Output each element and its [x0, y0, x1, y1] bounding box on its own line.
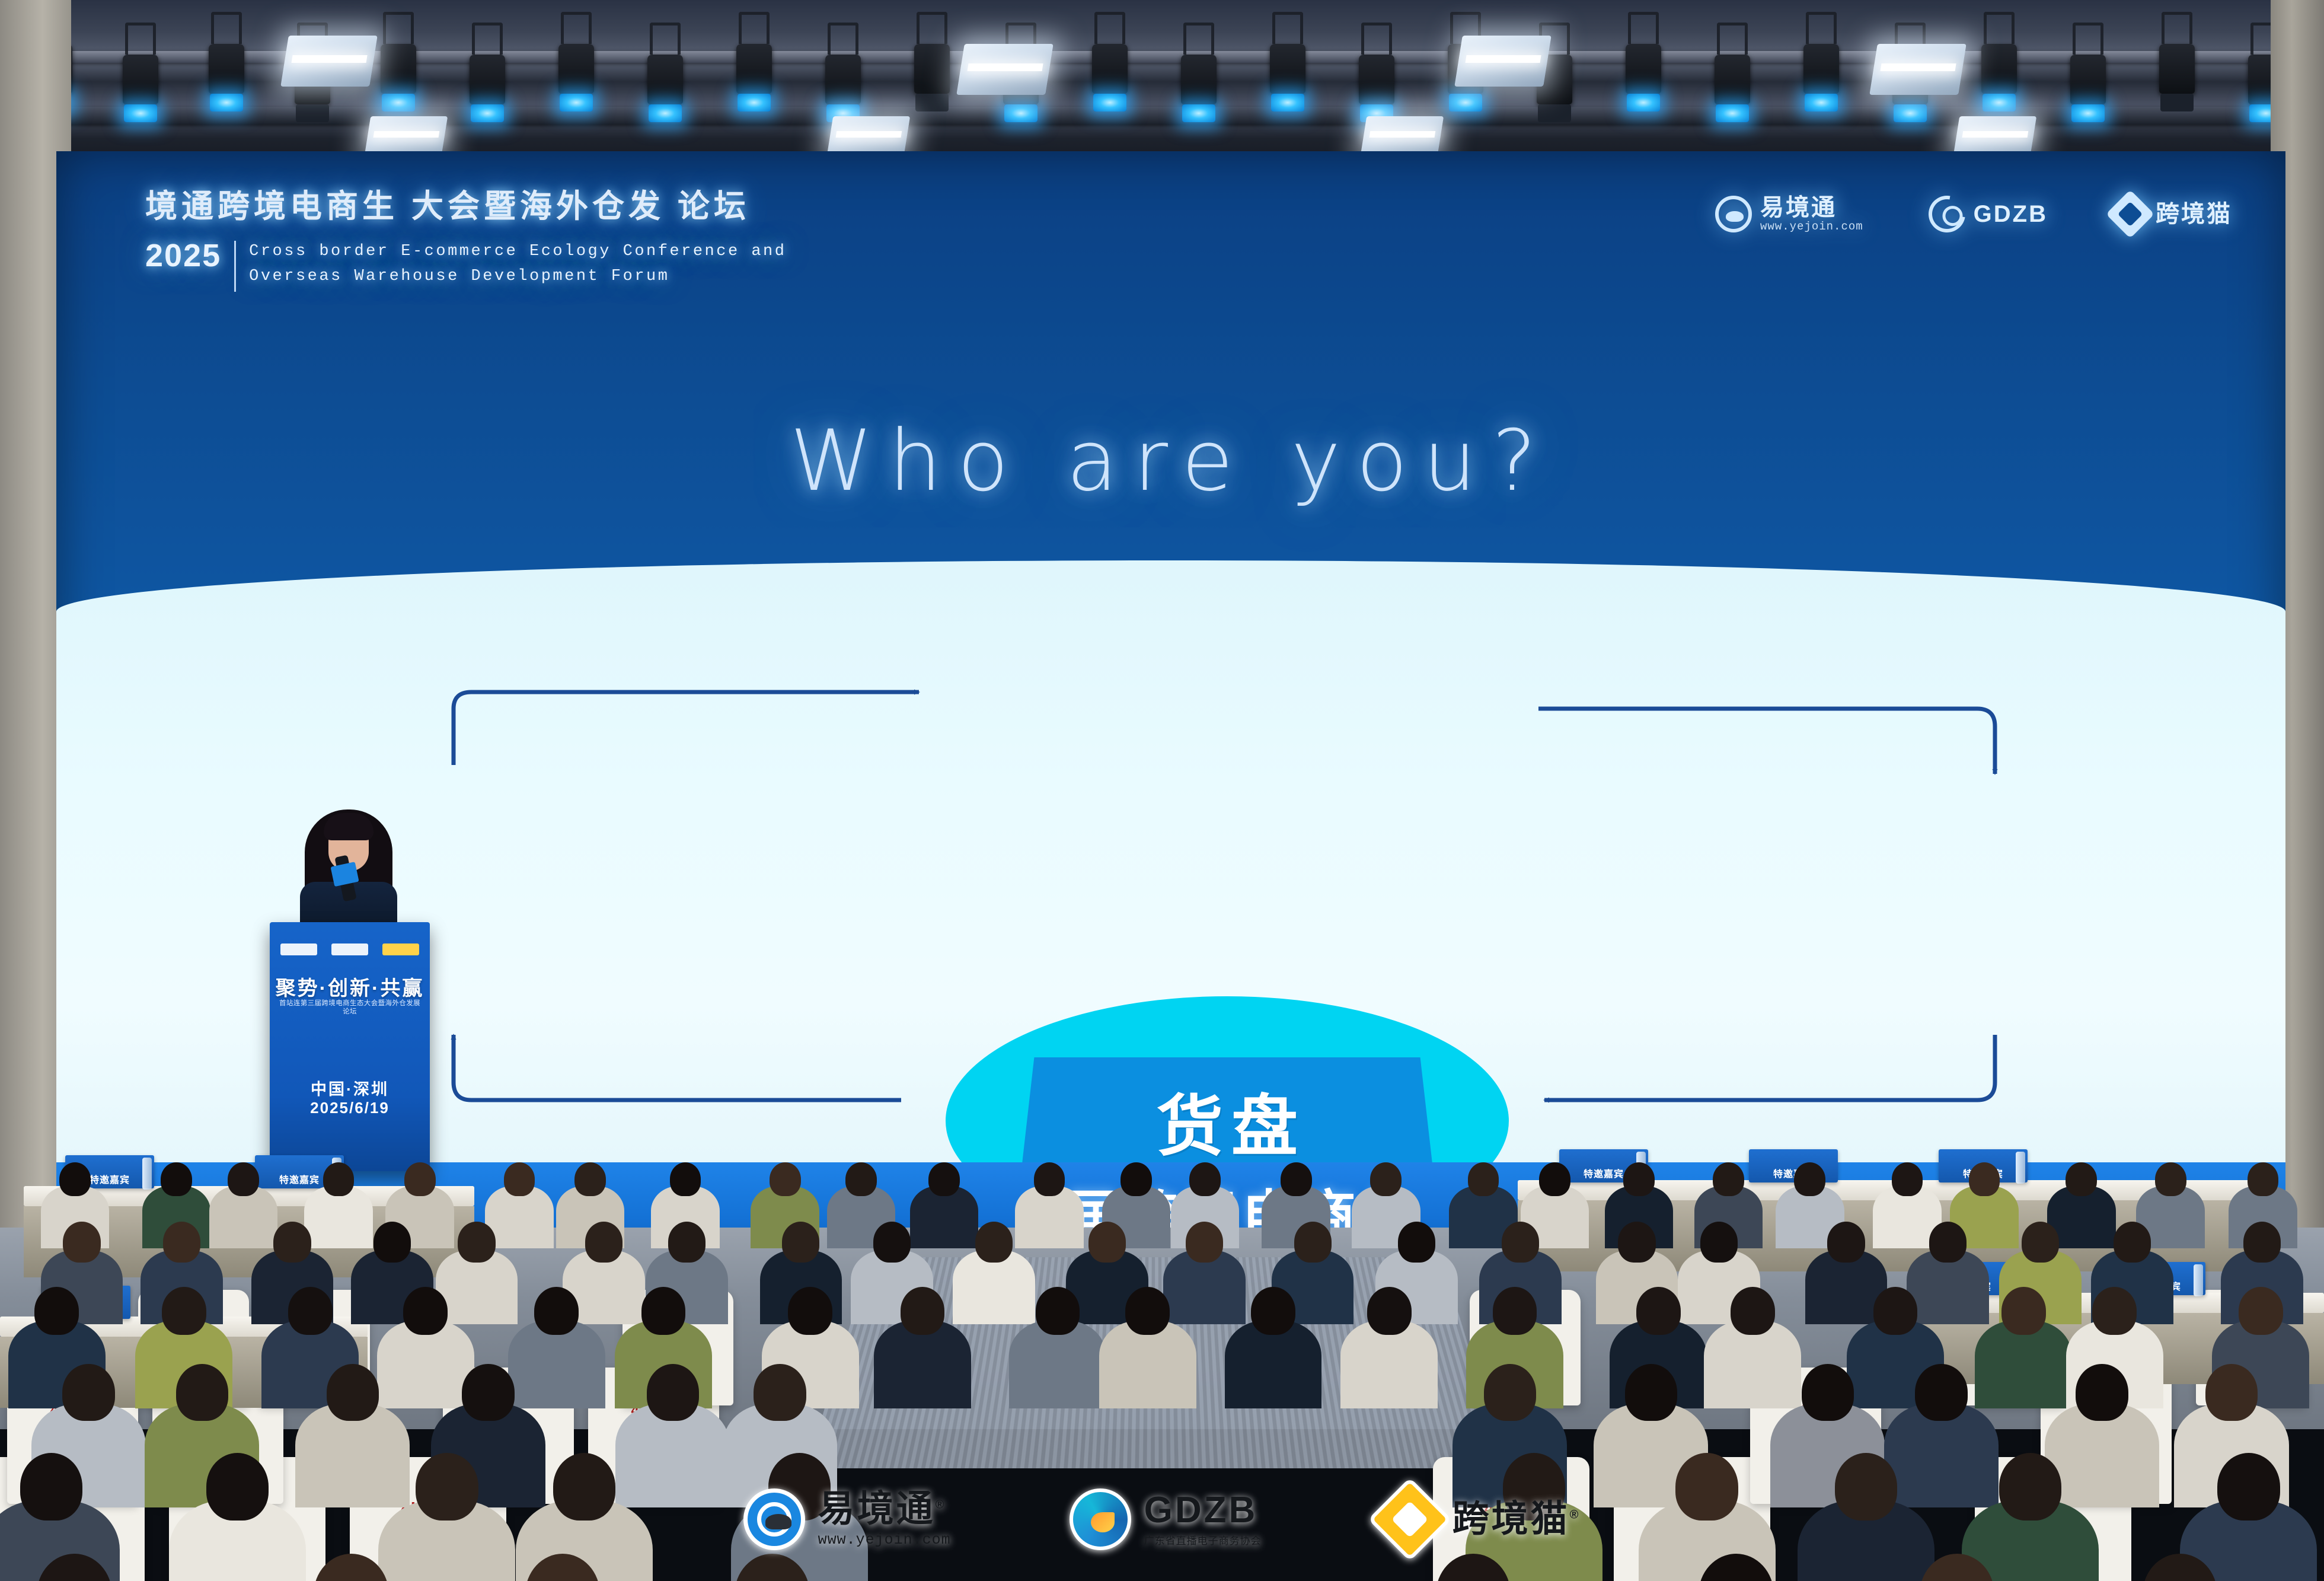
audience-member-head: [1802, 1364, 1854, 1421]
audience-member-head: [2239, 1287, 2283, 1335]
audience-member-head: [1618, 1222, 1655, 1263]
floodlight-slit: [1880, 63, 1956, 72]
light-lens: [1716, 104, 1749, 122]
audience-member-head: [534, 1287, 579, 1335]
audience-member-head: [1398, 1222, 1435, 1263]
light-lens: [1004, 104, 1037, 122]
stage-light-13: [1091, 12, 1129, 111]
audience-member-head: [845, 1162, 877, 1196]
audience-member-head: [228, 1162, 259, 1196]
light-body: [1181, 55, 1217, 104]
light-lens: [1182, 104, 1215, 122]
audience-member-head: [1794, 1162, 1825, 1196]
light-yoke: [1806, 12, 1837, 44]
light-body: [123, 55, 158, 104]
guest-placard-label: 特邀嘉宾: [1584, 1166, 1624, 1180]
audience-member-head: [647, 1364, 699, 1421]
audience-member-head: [1370, 1162, 1402, 1196]
audience-member-head: [1251, 1287, 1295, 1335]
audience-member-head: [1969, 1162, 2000, 1196]
stage-light-21: [1802, 12, 1840, 111]
audience-member-head: [574, 1162, 606, 1196]
led-sponsor-strip: 易境通 www.yejoin.com GDZB 跨境猫: [1715, 195, 2232, 233]
stage-light-6: [468, 23, 506, 122]
light-body: [1981, 44, 2017, 94]
audience-member-head: [770, 1162, 801, 1196]
floodlight-slit: [1465, 55, 1541, 63]
light-yoke: [561, 12, 592, 44]
speaker-presenter: [296, 804, 400, 928]
spiral-wave-icon: [1921, 189, 1972, 240]
light-lens: [124, 104, 157, 122]
light-yoke: [211, 12, 242, 44]
light-lens: [560, 94, 593, 111]
audience-member-head: [928, 1162, 960, 1196]
audience-member-head: [668, 1222, 705, 1263]
stage-light-25: [2158, 12, 2196, 111]
light-body: [825, 55, 861, 104]
audience-member-head: [2248, 1162, 2279, 1196]
water-bottle: [2016, 1152, 2025, 1184]
audience-member-head: [404, 1162, 436, 1196]
audience-member-head: [1731, 1287, 1775, 1335]
audience-member-head: [975, 1222, 1013, 1263]
title-divider: [234, 241, 236, 292]
light-lens: [210, 94, 243, 111]
light-yoke: [1628, 12, 1659, 44]
audience-member-head: [1713, 1162, 1744, 1196]
podium-logo-gdzb: [331, 944, 368, 955]
light-yoke: [650, 23, 681, 55]
stage-light-20: [1713, 23, 1751, 122]
light-yoke: [1984, 12, 2015, 44]
audience-member-head: [323, 1162, 355, 1196]
cloud-circle-icon: [1715, 196, 1752, 232]
light-body: [1626, 44, 1661, 94]
audience-member-head: [1493, 1287, 1537, 1335]
stage-floodlight-2: [956, 44, 1054, 95]
audience-member-head: [1186, 1222, 1223, 1263]
stage-light-14: [1180, 23, 1218, 122]
stage-floodlight-1: [280, 36, 378, 87]
audience-member-head: [2243, 1222, 2281, 1263]
stage-floodlight-lower-4: [1953, 116, 2036, 155]
light-lens: [296, 104, 329, 122]
led-sponsor-kuajingmao-name: 跨境猫: [2156, 202, 2232, 227]
audience-member-head: [1088, 1222, 1126, 1263]
audience-member-head: [59, 1162, 91, 1196]
light-yoke: [1183, 23, 1214, 55]
conference-title-cn: 境通跨境电商生 大会暨海外仓发 论坛: [145, 180, 952, 227]
watermark-kuajingmao-name: 跨境猫: [1452, 1499, 1570, 1539]
audience-member-head: [1892, 1162, 1923, 1196]
podium-logo-yejoin: [280, 944, 317, 955]
stage-light-2: [122, 23, 159, 122]
stage-floodlight-lower-3: [1361, 116, 1444, 155]
light-yoke: [2073, 23, 2103, 55]
watermark-kuajingmao-reg: ®: [1570, 1508, 1581, 1521]
stage-light-19: [1624, 12, 1662, 111]
watermark-yejoin-url: www.yejoin.com: [818, 1531, 951, 1548]
watermark-yejoin-reg: ®: [936, 1498, 947, 1511]
audience-member-head: [63, 1222, 100, 1263]
light-body: [647, 55, 683, 104]
audience-member-head: [1484, 1364, 1536, 1421]
light-lens: [1538, 104, 1571, 122]
stage-light-9: [735, 12, 773, 111]
audience-member-head: [1929, 1222, 1967, 1263]
audience-member-head: [1915, 1364, 1967, 1421]
conference-title-en-line1: Cross border E-commerce Ecology Conferen…: [249, 240, 786, 264]
light-lens: [1894, 104, 1927, 122]
light-lens: [1983, 94, 2016, 111]
audience-member-head: [373, 1222, 411, 1263]
stage-light-3: [207, 12, 245, 111]
water-bottle: [142, 1158, 152, 1190]
light-body: [2070, 55, 2106, 104]
light-yoke: [383, 12, 414, 44]
led-sponsor-yejoin-name: 易境通: [1760, 195, 1863, 220]
light-yoke: [1361, 23, 1392, 55]
light-yoke: [1272, 12, 1303, 44]
podium-logo-row: [280, 944, 419, 955]
light-body: [1092, 44, 1128, 94]
audience-member-head: [1625, 1364, 1677, 1421]
led-sponsor-kuajingmao: 跨境猫: [2113, 197, 2232, 231]
light-body: [558, 44, 594, 94]
audience-member-head: [2001, 1287, 2046, 1335]
stage-floodlight-4: [1869, 44, 1967, 95]
stage-light-15: [1269, 12, 1307, 111]
audience-member-head: [782, 1222, 819, 1263]
audience-member-head: [2205, 1364, 2258, 1421]
audience-member-head: [1294, 1222, 1332, 1263]
audience-member-head: [1539, 1162, 1570, 1196]
floodlight-slit: [291, 55, 367, 63]
audience-member-head: [458, 1222, 495, 1263]
audience-member-head: [1120, 1162, 1152, 1196]
audience-member-head: [62, 1364, 114, 1421]
led-sponsor-yejoin-url: www.yejoin.com: [1760, 220, 1863, 233]
audience-member-head: [1468, 1162, 1499, 1196]
light-body: [1803, 44, 1839, 94]
audience-member-head: [1367, 1287, 1412, 1335]
light-yoke: [739, 12, 770, 44]
light-yoke: [917, 12, 947, 44]
watermark-logo-row: 易境通® www.yejoin.com GDZB 广东省直播电子商务协会 跨境猫…: [0, 1488, 2324, 1550]
audience-member-head: [1034, 1162, 1065, 1196]
water-bottle: [2194, 1264, 2203, 1296]
audience-member-head: [788, 1287, 832, 1335]
stage-light-16: [1358, 23, 1396, 122]
audience-member-head: [162, 1287, 206, 1335]
audience-member-head: [1873, 1287, 1918, 1335]
guest-placard-label: 特邀嘉宾: [279, 1172, 320, 1186]
light-lens: [1093, 94, 1126, 111]
floodlight-slit: [373, 131, 439, 138]
light-yoke: [828, 23, 858, 55]
conference-year: 2025: [145, 240, 221, 272]
light-body: [2159, 44, 2195, 94]
floodlight-slit: [967, 63, 1043, 72]
stage-light-23: [1980, 12, 2018, 111]
light-body: [209, 44, 244, 94]
light-lens: [2071, 104, 2105, 122]
guest-placard-label: 特邀嘉宾: [90, 1172, 130, 1186]
stage-light-11: [913, 12, 951, 111]
stage-floodlight-lower-2: [827, 116, 910, 155]
audience-member-head: [504, 1162, 535, 1196]
stage-floodlight-3: [1454, 36, 1552, 87]
audience-member-head: [2076, 1364, 2128, 1421]
light-yoke: [1717, 23, 1748, 55]
audience-member-head: [1281, 1162, 1312, 1196]
light-yoke: [125, 23, 156, 55]
light-body: [1270, 44, 1305, 94]
light-lens: [471, 104, 504, 122]
light-yoke: [2162, 12, 2192, 44]
audience-member-head: [2155, 1162, 2186, 1196]
watermark-yejoin: 易境通® www.yejoin.com: [743, 1488, 951, 1550]
audience-member-head: [327, 1364, 379, 1421]
audience-member-head: [754, 1364, 806, 1421]
watermark-gdzb-sub: 广东省直播电子商务协会: [1144, 1532, 1262, 1547]
stage-light-8: [646, 23, 684, 122]
audience-member-head: [901, 1287, 945, 1335]
led-sponsor-gdzb-name: GDZB: [1974, 202, 2048, 227]
light-lens: [1805, 94, 1838, 111]
watermark-gdzb: GDZB 广东省直播电子商务协会: [1070, 1488, 1262, 1550]
light-lens: [1449, 94, 1482, 111]
diamond-cat-icon: [2106, 190, 2154, 238]
audience-member-head: [403, 1287, 448, 1335]
audience-member-head: [163, 1222, 200, 1263]
audience-member-head: [176, 1364, 228, 1421]
watermark-yejoin-name: 易境通: [818, 1488, 936, 1529]
audience-member-head: [1827, 1222, 1865, 1263]
audience-member-head: [1125, 1287, 1170, 1335]
kuajingmao-logo-icon: [1368, 1477, 1451, 1561]
audience-member-head: [585, 1222, 622, 1263]
light-lens: [382, 94, 415, 111]
audience-member-head: [2092, 1287, 2137, 1335]
watermark-kuajingmao: 跨境猫®: [1380, 1490, 1581, 1549]
light-lens: [738, 94, 771, 111]
audience-member-head: [34, 1287, 79, 1335]
audience-member-head: [273, 1222, 311, 1263]
stage-floodlight-lower-1: [365, 116, 448, 155]
audience-member-head: [873, 1222, 911, 1263]
stage-light-24: [2069, 23, 2107, 122]
slide-headline: Who are you?: [56, 412, 2285, 510]
audience-member-head: [1502, 1222, 1539, 1263]
yejoin-logo-icon: [743, 1488, 805, 1550]
audience-member-head: [2066, 1162, 2097, 1196]
conference-title-en: Cross border E-commerce Ecology Conferen…: [249, 240, 786, 289]
light-lens: [915, 94, 949, 111]
conference-title-block: 境通跨境电商生 大会暨海外仓发 论坛 2025 Cross border E-c…: [145, 180, 952, 292]
led-sponsor-gdzb: GDZB: [1929, 196, 2048, 232]
podium-logo-kuajingmao: [382, 944, 419, 955]
light-lens: [1627, 94, 1660, 111]
floodlight-slit: [836, 131, 902, 138]
light-yoke: [1094, 12, 1125, 44]
audience-member-head: [288, 1287, 333, 1335]
floodlight-slit: [1962, 131, 2028, 138]
screenshot-root: 境通跨境电商生 大会暨海外仓发 论坛 2025 Cross border E-c…: [0, 0, 2324, 1581]
light-lens: [649, 104, 682, 122]
stage-light-5: [379, 12, 417, 111]
audience-member-head: [1623, 1162, 1655, 1196]
light-body: [914, 44, 950, 94]
audience-member-head: [161, 1162, 192, 1196]
light-lens: [1271, 94, 1304, 111]
light-body: [736, 44, 772, 94]
conference-title-en-line2: Overseas Warehouse Development Forum: [249, 264, 786, 289]
audience-member-head: [670, 1162, 701, 1196]
audience-member-head: [2114, 1222, 2151, 1263]
audience-member-head: [1189, 1162, 1221, 1196]
stage-light-7: [557, 12, 595, 111]
gdzb-logo-icon: [1070, 1488, 1131, 1550]
light-body: [381, 44, 416, 94]
speaker-fringe: [324, 813, 373, 840]
light-lens: [2160, 94, 2194, 111]
watermark-gdzb-name: GDZB: [1144, 1492, 1262, 1529]
led-sponsor-yejoin: 易境通 www.yejoin.com: [1715, 195, 1863, 233]
audience-member-head: [641, 1287, 686, 1335]
audience-member-head: [462, 1364, 514, 1421]
audience-member-head: [1636, 1287, 1681, 1335]
light-body: [1715, 55, 1750, 104]
stage-light-10: [824, 23, 862, 122]
light-body: [1359, 55, 1394, 104]
floodlight-slit: [1369, 131, 1435, 138]
light-body: [470, 55, 505, 104]
audience-member-head: [2022, 1222, 2059, 1263]
audience-member-head: [1700, 1222, 1738, 1263]
audience-member-head: [1036, 1287, 1080, 1335]
light-yoke: [472, 23, 503, 55]
